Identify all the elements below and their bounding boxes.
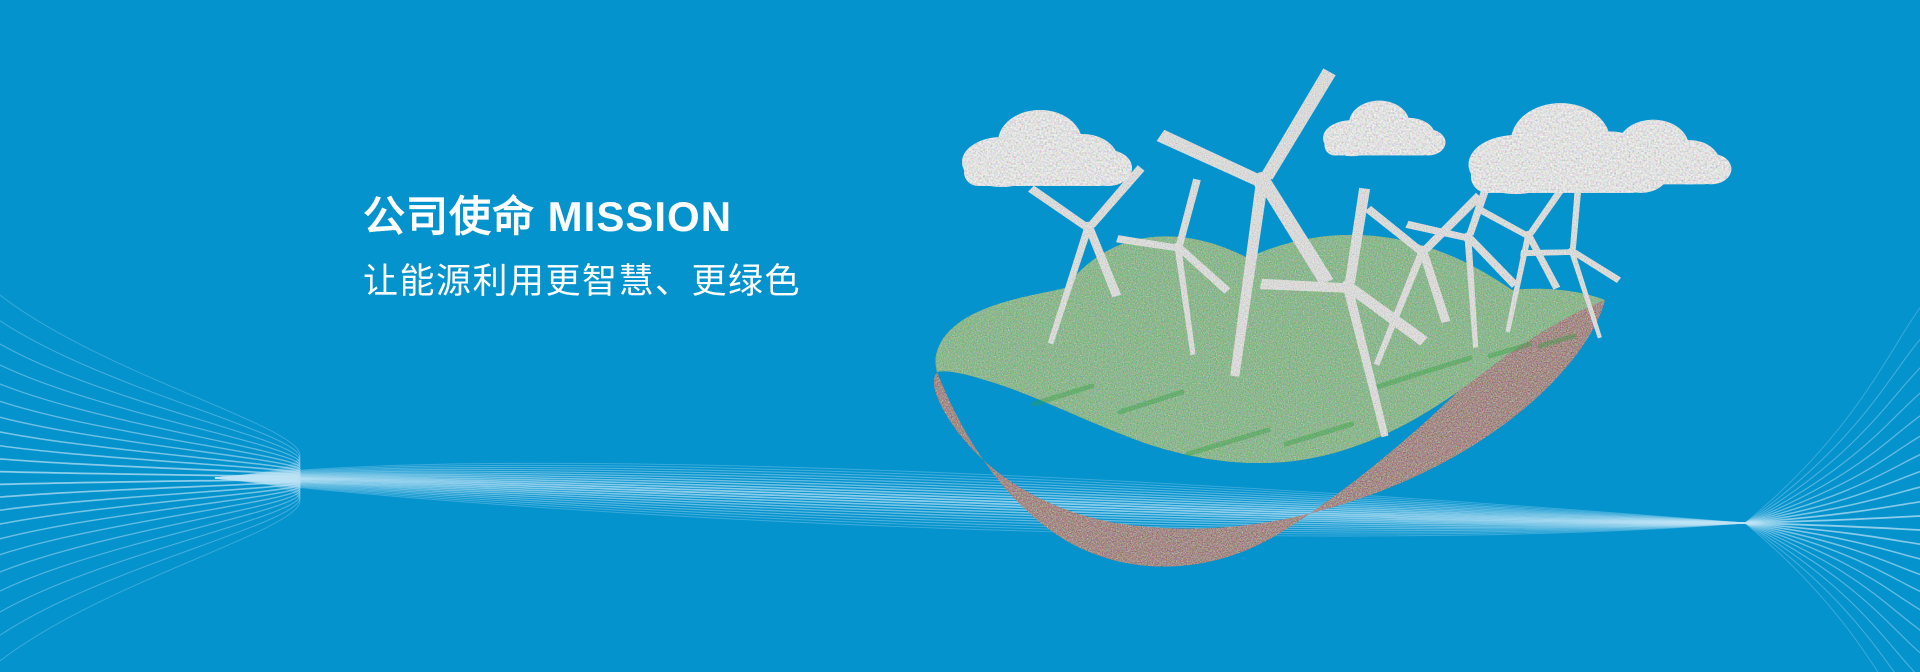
cloud-left [962, 110, 1132, 187]
wave-line [0, 462, 1920, 534]
page-title: 公司使命 MISSION [363, 192, 1063, 242]
wave-line [0, 470, 1920, 531]
turbine-group [986, 47, 1637, 457]
cloud-right-large [1469, 103, 1670, 194]
turbine-3 [1126, 47, 1362, 388]
wave-line [0, 396, 1920, 592]
wave-line [0, 477, 1920, 523]
wave-line [0, 341, 1920, 640]
background-wave-lines [0, 0, 1920, 672]
cloud-mid-small [1323, 101, 1445, 156]
wave-line [0, 478, 1920, 523]
wave-line [0, 439, 1920, 566]
wave-line [0, 455, 1920, 549]
island-soil-rim [937, 300, 1605, 463]
wave-line [0, 370, 1920, 615]
turbine-5 [1313, 157, 1498, 384]
wave-line [0, 288, 1920, 672]
wave-line [0, 341, 1920, 672]
turbine-2 [1109, 176, 1239, 364]
turbine-8 [1507, 187, 1637, 353]
turbine-shadows [1034, 336, 1574, 454]
wind-farm-illustration [0, 0, 1920, 672]
wave-line [0, 316, 1920, 672]
wave-line [0, 272, 1920, 672]
cloud-far-right [1587, 120, 1732, 185]
wave-line [0, 442, 1920, 552]
mission-subtitle: 让能源利用更智慧、更绿色 [363, 260, 1063, 304]
wave-line [0, 257, 1920, 672]
wave-line [0, 422, 1920, 584]
wave-line [0, 308, 1920, 668]
turbine-7 [1454, 165, 1582, 340]
turbine-6 [1402, 167, 1523, 352]
mission-banner: 公司使命 MISSION 让能源利用更智慧、更绿色 [0, 0, 1920, 672]
wave-line [0, 478, 1920, 523]
wave-line [0, 420, 1920, 571]
mission-text-block: 公司使命 MISSION 让能源利用更智慧、更绿色 [363, 192, 1063, 304]
island-soil [934, 300, 1605, 567]
wave-line [0, 385, 1920, 626]
cloud-group [962, 101, 1731, 194]
turbine-4 [1242, 181, 1449, 458]
wave-line [0, 404, 1920, 604]
wave-line [0, 364, 1920, 650]
